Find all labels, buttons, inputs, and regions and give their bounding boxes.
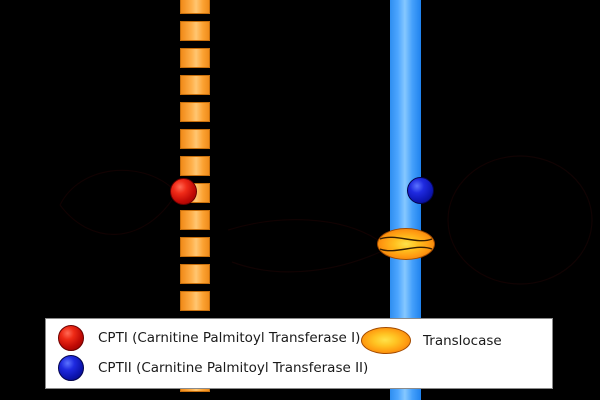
legend-entry-translocase: Translocase (361, 327, 502, 354)
legend-label-cpt1: CPTI (Carnitine Palmitoyl Transferase I) (98, 330, 360, 346)
arrow-path-center-bottom (232, 252, 380, 272)
arrow-path-left-return (60, 200, 172, 234)
orange-ellipse-icon (361, 327, 411, 354)
arrow-path-left (60, 170, 172, 205)
arrow-path-right-cycle (448, 156, 592, 284)
red-sphere-icon (58, 325, 84, 351)
translocase-channel-lines (377, 228, 435, 260)
diagram-canvas: CPTI (Carnitine Palmitoyl Transferase I)… (0, 0, 600, 400)
cpt1-sphere (170, 178, 197, 205)
blue-sphere-icon (58, 355, 84, 381)
cpt2-sphere (407, 177, 434, 204)
legend-entry-cpt2: CPTII (Carnitine Palmitoyl Transferase I… (58, 355, 368, 381)
translocase-ellipse (377, 228, 435, 260)
legend-entry-cpt1: CPTI (Carnitine Palmitoyl Transferase I) (58, 325, 360, 351)
legend-label-cpt2: CPTII (Carnitine Palmitoyl Transferase I… (98, 360, 368, 376)
arrow-path-center-top (228, 220, 378, 240)
legend-label-translocase: Translocase (423, 333, 502, 349)
legend-box: CPTI (Carnitine Palmitoyl Transferase I)… (45, 318, 553, 389)
